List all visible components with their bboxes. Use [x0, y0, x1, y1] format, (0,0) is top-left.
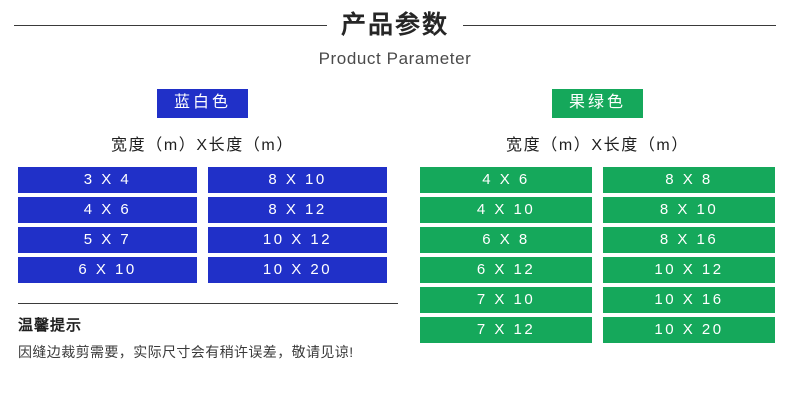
color-badge-blue-white: 蓝白色	[157, 89, 248, 118]
size-cell: 6 X 10	[18, 257, 197, 283]
title-rule-right	[463, 25, 776, 26]
badge-row-green: 果绿色	[420, 89, 775, 118]
size-cell: 6 X 12	[420, 257, 592, 283]
size-cell: 4 X 10	[420, 197, 592, 223]
size-cell: 6 X 8	[420, 227, 592, 253]
size-grid-green: 4 X 6 4 X 10 6 X 8 6 X 12 7 X 10 7 X 12 …	[420, 167, 775, 343]
size-cell: 8 X 16	[603, 227, 775, 253]
size-cell: 10 X 12	[603, 257, 775, 283]
page-subtitle: Product Parameter	[0, 49, 790, 69]
size-cell: 8 X 12	[208, 197, 387, 223]
badge-row-blue: 蓝白色	[18, 89, 387, 118]
size-cell: 10 X 12	[208, 227, 387, 253]
size-cell: 8 X 10	[208, 167, 387, 193]
size-cell: 4 X 6	[420, 167, 592, 193]
page-title: 产品参数	[341, 12, 449, 40]
size-cell: 7 X 12	[420, 317, 592, 343]
size-cell: 7 X 10	[420, 287, 592, 313]
size-cell: 5 X 7	[18, 227, 197, 253]
size-cell: 3 X 4	[18, 167, 197, 193]
title-row: 产品参数	[0, 12, 790, 40]
page-header: 产品参数 Product Parameter	[0, 0, 790, 69]
size-cell: 8 X 8	[603, 167, 775, 193]
color-badge-fruit-green: 果绿色	[552, 89, 643, 118]
size-cell: 4 X 6	[18, 197, 197, 223]
size-cell: 10 X 20	[208, 257, 387, 283]
size-column-green-left: 4 X 6 4 X 10 6 X 8 6 X 12 7 X 10 7 X 12	[420, 167, 592, 343]
dimension-label-blue: 宽度（m）X长度（m）	[18, 131, 387, 155]
size-cell: 10 X 16	[603, 287, 775, 313]
product-parameter-page: { "header": { "title": "产品参数", "subtitle…	[0, 0, 790, 412]
size-cell: 10 X 20	[603, 317, 775, 343]
tips-title: 温馨提示	[18, 314, 398, 335]
size-column-blue-right: 8 X 10 8 X 12 10 X 12 10 X 20	[208, 167, 387, 283]
size-grid-blue: 3 X 4 4 X 6 5 X 7 6 X 10 8 X 10 8 X 12 1…	[18, 167, 387, 283]
tips-divider	[18, 303, 398, 304]
warm-tips-section: 温馨提示 因缝边裁剪需要，实际尺寸会有稍许误差，敬请见谅!	[18, 303, 398, 362]
title-rule-left	[14, 25, 327, 26]
dimension-label-green: 宽度（m）X长度（m）	[420, 131, 775, 155]
tips-text: 因缝边裁剪需要，实际尺寸会有稍许误差，敬请见谅!	[18, 342, 398, 362]
size-column-green-right: 8 X 8 8 X 10 8 X 16 10 X 12 10 X 16 10 X…	[603, 167, 775, 343]
size-column-blue-left: 3 X 4 4 X 6 5 X 7 6 X 10	[18, 167, 197, 283]
panel-fruit-green: 果绿色 宽度（m）X长度（m） 4 X 6 4 X 10 6 X 8 6 X 1…	[405, 89, 790, 343]
size-cell: 8 X 10	[603, 197, 775, 223]
